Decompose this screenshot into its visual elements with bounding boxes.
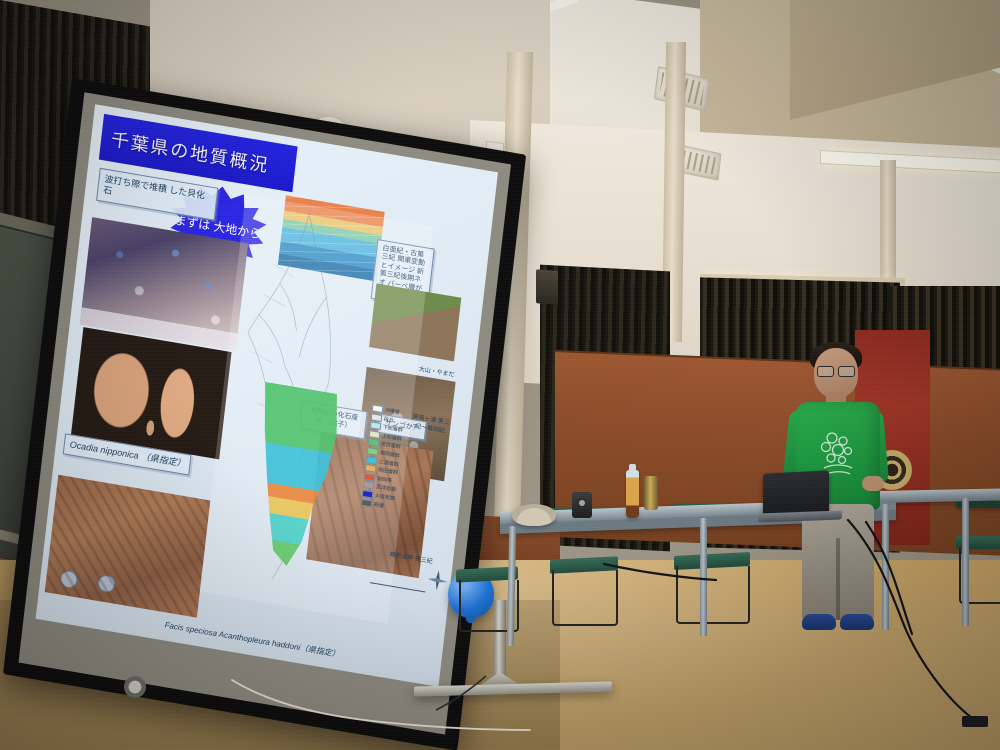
photo-badge-2-icon (97, 574, 116, 594)
map-label-oyama: 大山・やまだ (413, 363, 461, 380)
legend-swatch (372, 404, 384, 413)
legend-swatch (366, 456, 378, 465)
legend-swatch (370, 421, 382, 430)
legend-swatch (368, 438, 380, 447)
legend-swatch (369, 430, 381, 439)
projection-screen[interactable]: 千葉県の地質概況 まずは 大地から 波打ち際で堆積 した貝化石 Ocadia n… (3, 78, 526, 750)
legend-swatch (364, 473, 376, 482)
legend-swatch (362, 490, 374, 499)
eyeglasses-icon (817, 366, 855, 375)
chair-frame (552, 570, 618, 626)
table-leg (962, 498, 969, 626)
legend-swatch (371, 413, 383, 422)
legend-swatch (361, 498, 373, 507)
table-leg (700, 518, 707, 636)
screen-caster-wheel (124, 676, 146, 698)
presenter-right-shoe (840, 614, 874, 630)
presenter-pants (802, 504, 874, 620)
photo-scene: 千葉県の地質概況 まずは 大地から 波打ち際で堆積 した貝化石 Ocadia n… (0, 0, 1000, 750)
legend-swatch (363, 481, 375, 490)
trophy-object (644, 476, 658, 510)
photo-badge-icon (59, 569, 78, 589)
presenter-left-shoe (802, 614, 836, 630)
water-bottle (626, 470, 639, 518)
room: 千葉県の地質概況 まずは 大地から 波打ち際で堆積 した貝化石 Ocadia n… (0, 0, 1000, 750)
laptop-screen[interactable] (763, 470, 829, 515)
legend-swatch (365, 464, 377, 473)
straw-hat (512, 504, 556, 526)
slide-content: 千葉県の地質概況 まずは 大地から 波打ち際で堆積 した貝化石 Ocadia n… (36, 104, 498, 687)
chair-frame (676, 566, 750, 624)
presenter-right-hand (862, 476, 884, 491)
legend-label: 断層 (374, 500, 385, 509)
photo-ocadia-rock (45, 475, 211, 618)
legend-swatch (367, 447, 379, 456)
power-adapter (962, 716, 988, 727)
camera (572, 492, 592, 518)
wall-speaker-icon (536, 269, 558, 305)
map-compass-icon (426, 568, 450, 594)
legend-label: 段丘 (384, 415, 395, 424)
